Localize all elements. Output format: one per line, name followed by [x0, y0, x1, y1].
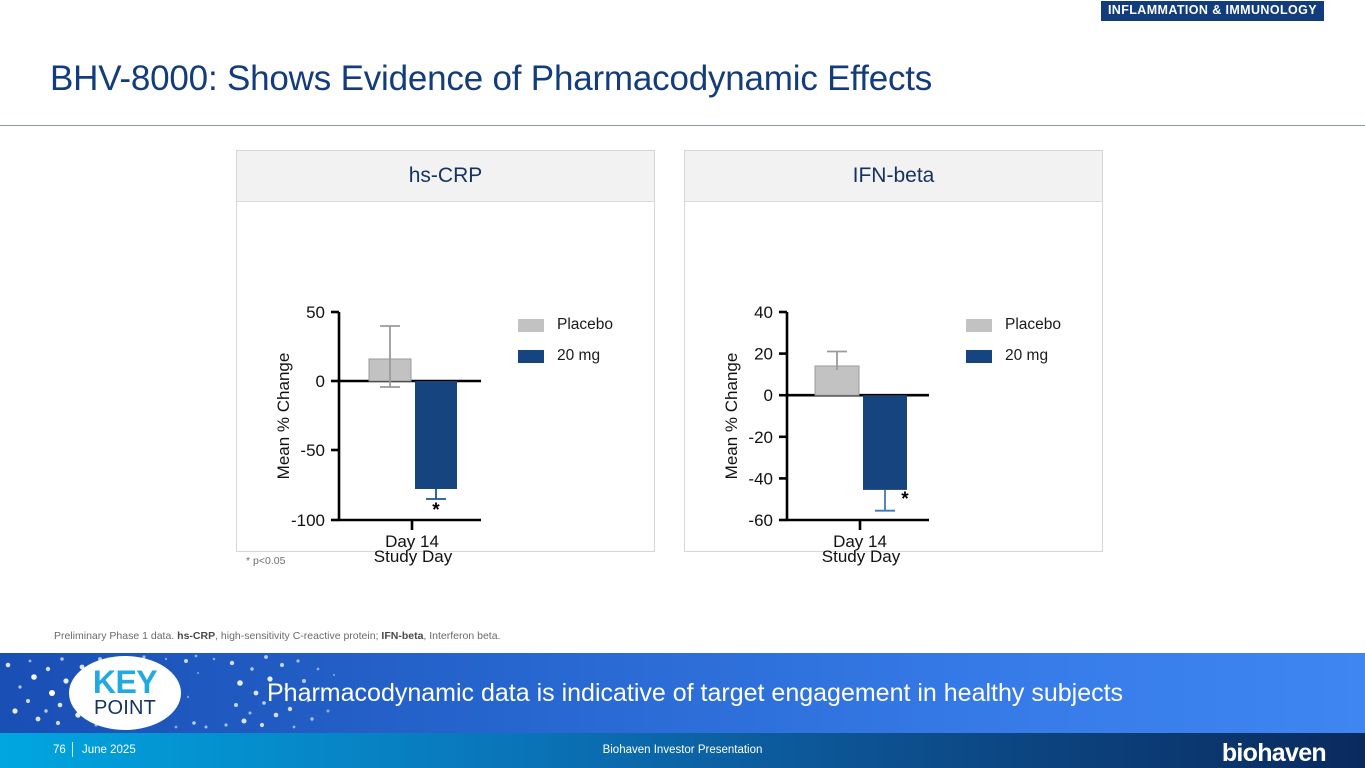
source-abbr-hscrp: hs-CRP [177, 630, 215, 642]
y-axis-label: Mean % Change [274, 353, 293, 480]
legend-item-placebo: Placebo [966, 316, 1061, 334]
chart-legend: Placebo 20 mg [518, 316, 613, 378]
source-abbr-ifnbeta: IFN-beta [381, 630, 423, 642]
legend-swatch-dose [966, 350, 992, 363]
source-suffix: , Interferon beta. [423, 630, 500, 642]
significance-marker: * [901, 489, 909, 510]
legend-label-dose: 20 mg [557, 347, 600, 365]
legend-item-dose: 20 mg [518, 347, 613, 365]
footer-center-text: Biohaven Investor Presentation [0, 744, 1365, 756]
chart-legend: Placebo 20 mg [966, 316, 1061, 378]
chart-title: hs-CRP [409, 164, 483, 188]
chart-title: IFN-beta [853, 164, 935, 188]
legend-label-dose: 20 mg [1005, 347, 1048, 365]
key-point-badge: KEY POINT [69, 656, 181, 730]
bar-placebo [815, 366, 859, 395]
y-tick-label: 40 [754, 303, 773, 322]
legend-swatch-placebo [518, 319, 544, 332]
y-tick-label: -40 [748, 469, 773, 488]
y-tick-label: -20 [748, 428, 773, 447]
key-point-badge-line1: KEY [93, 667, 157, 698]
page-title: BHV-8000: Shows Evidence of Pharmacodyna… [50, 59, 932, 99]
slide-root: INFLAMMATION & IMMUNOLOGY BHV-8000: Show… [0, 0, 1365, 768]
significance-marker: * [432, 500, 440, 521]
x-axis-label: Study Day [342, 547, 484, 567]
pvalue-footnote: * p<0.05 [246, 555, 285, 567]
y-tick-label: 20 [754, 345, 773, 364]
y-tick-label: 50 [306, 303, 325, 322]
y-axis-label: Mean % Change [722, 353, 741, 480]
key-point-badge-line2: POINT [94, 698, 156, 719]
footer-bar: 76 June 2025 Biohaven Investor Presentat… [0, 733, 1365, 768]
y-tick-label: -50 [300, 441, 325, 460]
source-prefix: Preliminary Phase 1 data. [54, 630, 177, 642]
y-tick-label: 0 [764, 386, 773, 405]
key-point-banner: KEY POINT Pharmacodynamic data is indica… [0, 653, 1365, 733]
legend-swatch-placebo [966, 319, 992, 332]
legend-swatch-dose [518, 350, 544, 363]
legend-label-placebo: Placebo [1005, 316, 1061, 334]
chart-panel-header: IFN-beta [685, 151, 1102, 202]
y-tick-label: 0 [316, 372, 325, 391]
chart-panel-body: 50 0 -50 -100 Mean % Change [237, 202, 654, 552]
y-tick-label: -100 [291, 511, 325, 530]
legend-item-placebo: Placebo [518, 316, 613, 334]
chart-panel-body: 40 20 0 -20 -40 -60 Mean % Change [685, 202, 1102, 552]
source-footnote: Preliminary Phase 1 data. hs-CRP, high-s… [54, 630, 500, 642]
category-tag: INFLAMMATION & IMMUNOLOGY [1101, 1, 1324, 21]
chart-panel-header: hs-CRP [237, 151, 654, 202]
title-divider [0, 125, 1365, 126]
key-point-message: Pharmacodynamic data is indicative of ta… [267, 653, 1123, 733]
source-mid: , high-sensitivity C-reactive protein; [215, 630, 381, 642]
x-axis-label: Study Day [790, 547, 932, 567]
legend-item-dose: 20 mg [966, 347, 1061, 365]
bar-dose-20mg [415, 381, 457, 489]
chart-panel-hscrp: hs-CRP 50 0 -50 -100 Mean [236, 150, 655, 552]
legend-label-placebo: Placebo [557, 316, 613, 334]
chart-panel-ifnbeta: IFN-beta 40 20 0 -20 [684, 150, 1103, 552]
y-tick-label: -60 [748, 511, 773, 530]
bar-dose-20mg [863, 395, 907, 490]
biohaven-logo: biohaven [1222, 739, 1326, 768]
